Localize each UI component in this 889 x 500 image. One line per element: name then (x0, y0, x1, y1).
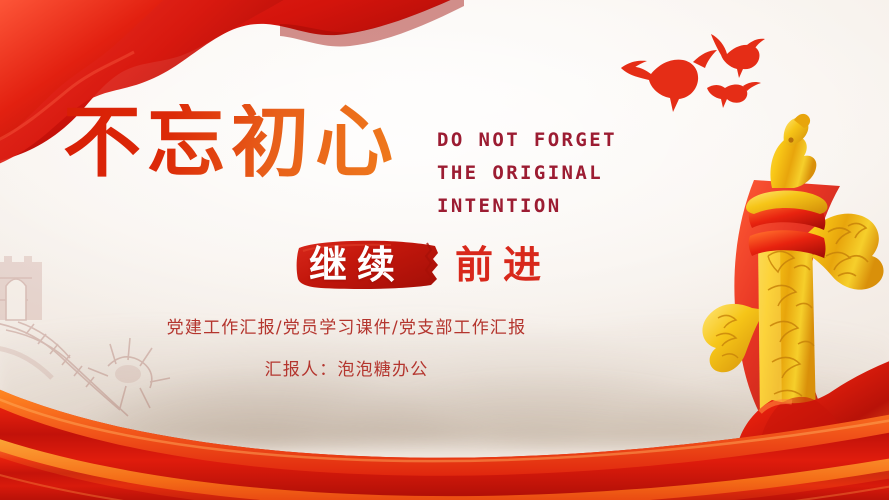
subtitle-topics: 党建工作汇报/党员学习课件/党支部工作汇报 (0, 313, 889, 338)
english-line-3: INTENTION (437, 190, 617, 223)
presentation-title-slide: 不忘初心 DO NOT FORGET THE ORIGINAL INTENTIO… (0, 0, 889, 500)
slogan-group: 继续 前进 (295, 232, 575, 296)
subtitle-presenter: 汇报人：泡泡糖办公 (0, 355, 889, 380)
golden-huabiao-column-icon (676, 60, 889, 460)
slogan-highlight-text: 继续 (309, 244, 405, 286)
english-line-2: THE ORIGINAL (437, 157, 617, 190)
slogan-rest-text: 前进 (455, 244, 551, 286)
page-title-chinese: 不忘初心 (63, 104, 399, 182)
page-title-english: DO NOT FORGET THE ORIGINAL INTENTION (437, 124, 617, 223)
great-wall-watermark-icon (0, 256, 238, 426)
red-doves-icon (615, 28, 765, 128)
english-line-1: DO NOT FORGET (437, 124, 617, 157)
